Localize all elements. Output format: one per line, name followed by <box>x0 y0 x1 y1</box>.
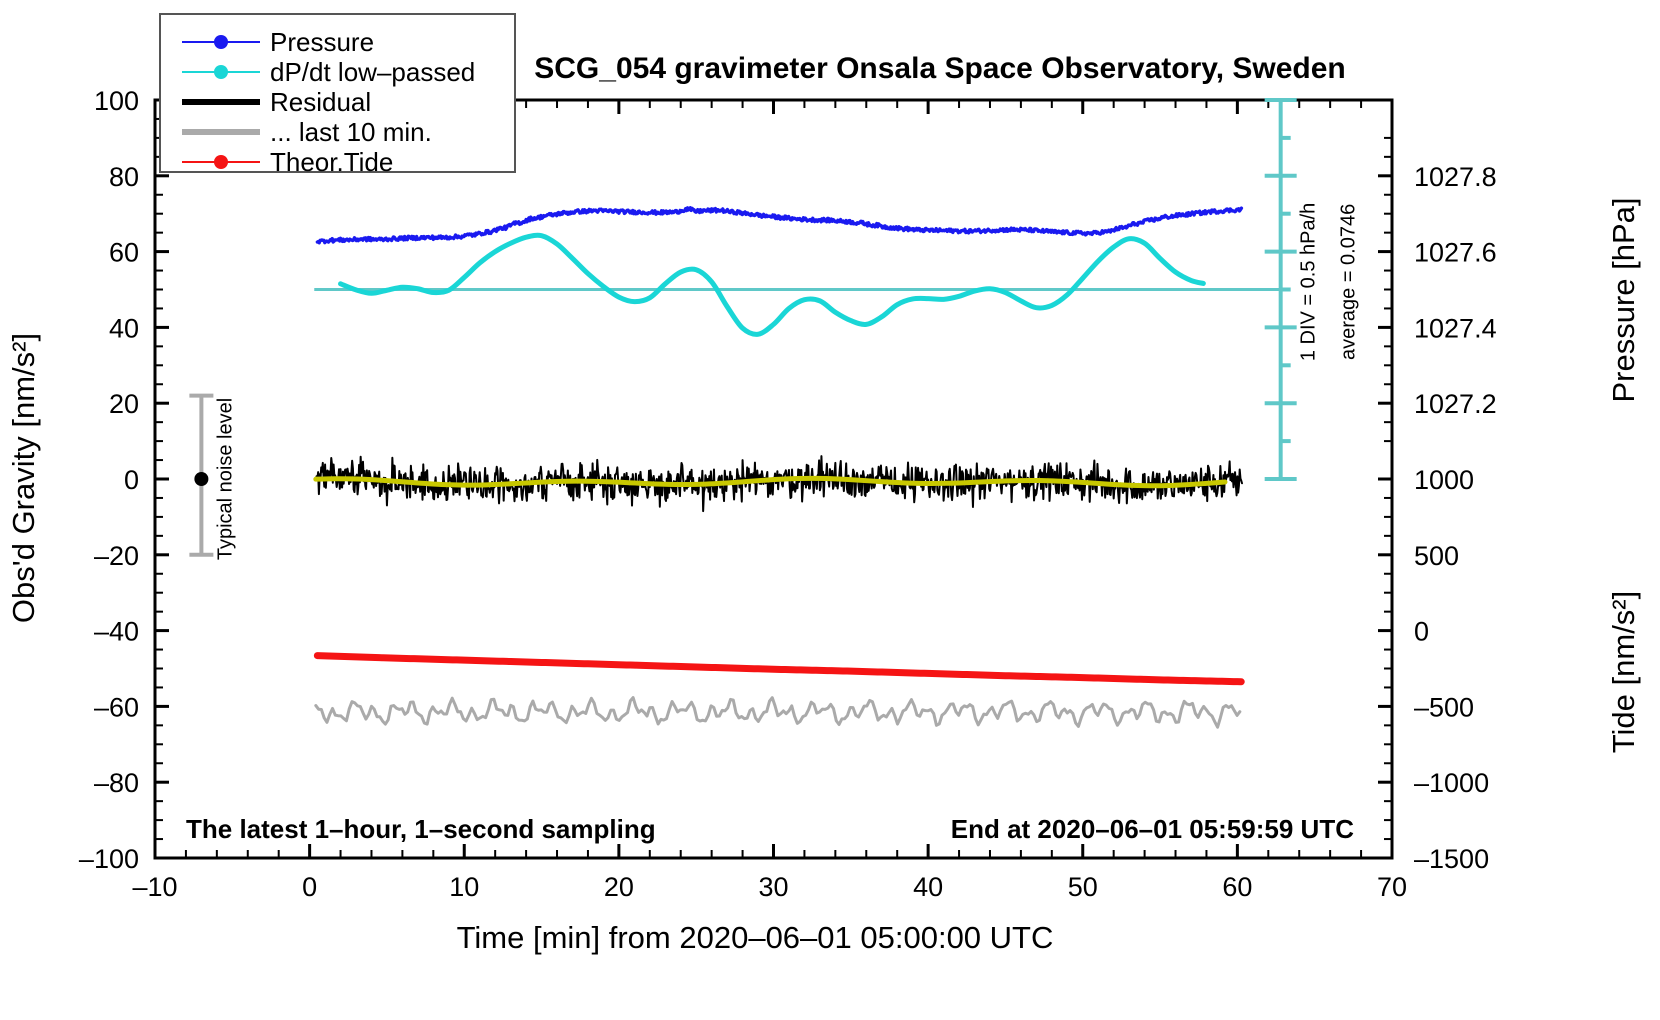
tide-tick-label: –1000 <box>1414 768 1489 798</box>
y-tick-label: 80 <box>109 162 139 192</box>
tide-tick-label: 0 <box>1414 617 1429 647</box>
y-tick-label: 60 <box>109 238 139 268</box>
right-axis-title-pressure: Pressure [hPa] <box>1606 197 1641 402</box>
x-tick-label: 40 <box>913 872 943 902</box>
tide-tick-label: 1000 <box>1414 465 1474 495</box>
y-tick-label: 100 <box>94 86 139 116</box>
x-tick-label: 60 <box>1222 872 1252 902</box>
y-tick-label: –40 <box>94 617 139 647</box>
legend-label-1[interactable]: dP/dt low–passed <box>270 57 475 87</box>
y-tick-label: –80 <box>94 768 139 798</box>
pressure-tick-label: 1027.6 <box>1414 238 1497 268</box>
y-tick-label: –60 <box>94 692 139 722</box>
x-tick-label: 70 <box>1377 872 1407 902</box>
tide-tick-label: 500 <box>1414 541 1459 571</box>
x-tick-label: 0 <box>302 872 317 902</box>
x-tick-label: 50 <box>1068 872 1098 902</box>
right-axis-title-tide: Tide [nm/s²] <box>1606 591 1641 754</box>
average-label: average = 0.0746 <box>1338 204 1360 360</box>
x-tick-label: –10 <box>132 872 177 902</box>
pressure-tick-label: 1027.2 <box>1414 389 1497 419</box>
x-tick-label: 30 <box>758 872 788 902</box>
pressure-tick-label: 1027.4 <box>1414 313 1497 343</box>
div-scale-label: 1 DIV = 0.5 hPa/h <box>1298 203 1320 361</box>
x-tick-label: 20 <box>604 872 634 902</box>
y-tick-label: –100 <box>79 844 139 874</box>
page-title: SCG_054 gravimeter Onsala Space Observat… <box>534 52 1346 85</box>
legend-marker-1 <box>214 65 228 79</box>
legend-label-0[interactable]: Pressure <box>270 27 374 57</box>
legend-marker-0 <box>214 35 228 49</box>
legend-marker-4 <box>214 155 228 169</box>
y-tick-label: 0 <box>124 465 139 495</box>
legend-label-2[interactable]: Residual <box>270 87 371 117</box>
gravimeter-chart: SCG_054 gravimeter Onsala Space Observat… <box>0 0 1660 1020</box>
y-axis-title: Obs'd Gravity [nm/s²] <box>6 333 41 623</box>
pressure-tick-label: 1027.8 <box>1414 162 1497 192</box>
x-axis-title: Time [min] from 2020–06–01 05:00:00 UTC <box>457 920 1054 955</box>
legend-label-4[interactable]: Theor.Tide <box>270 147 393 177</box>
chart-root: SCG_054 gravimeter Onsala Space Observat… <box>0 0 1660 1020</box>
noise-center-dot <box>194 472 208 486</box>
sampling-note: The latest 1–hour, 1–second sampling <box>186 814 656 844</box>
tide-tick-label: –500 <box>1414 692 1474 722</box>
y-tick-label: 40 <box>109 313 139 343</box>
end-time-note: End at 2020–06–01 05:59:59 UTC <box>951 814 1354 844</box>
y-tick-label: 20 <box>109 389 139 419</box>
legend-label-3[interactable]: ... last 10 min. <box>270 117 432 147</box>
y-tick-label: –20 <box>94 541 139 571</box>
x-tick-label: 10 <box>449 872 479 902</box>
noise-level-label: Typical noise level <box>214 398 236 560</box>
tide-tick-label: –1500 <box>1414 844 1489 874</box>
legend[interactable]: PressuredP/dt low–passedResidual... last… <box>160 14 515 177</box>
